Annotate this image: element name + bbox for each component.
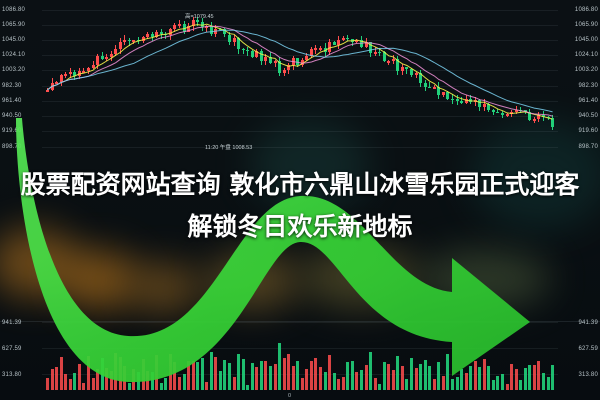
- volume-bar: [533, 365, 536, 390]
- volume-bar: [487, 366, 490, 390]
- volume-bar: [528, 365, 531, 390]
- volume-bar: [283, 358, 286, 390]
- volume-bar: [146, 371, 149, 390]
- headline-line-1: 股票配资网站查询 敦化市六鼎山冰雪乐园正式迎客: [0, 164, 600, 206]
- volume-bar: [205, 382, 208, 390]
- volume-bar: [183, 374, 186, 390]
- volume-bar: [415, 368, 418, 390]
- volume-bar: [378, 384, 381, 390]
- volume-bar: [264, 361, 267, 390]
- volume-bar: [301, 378, 304, 390]
- volume-bar: [442, 376, 445, 390]
- volume-bar: [506, 384, 509, 390]
- headline-line-2: 解锁冬日欢乐新地标: [0, 206, 600, 248]
- volume-bar: [242, 359, 245, 390]
- volume-bar: [114, 353, 117, 390]
- volume-panel: 941.39 627.59 313.80 941.39 627.59 313.8…: [0, 321, 600, 400]
- volume-bar: [365, 365, 368, 390]
- volume-bar: [251, 363, 254, 390]
- volume-bar: [46, 378, 49, 390]
- volume-bar: [123, 366, 126, 390]
- volume-bar: [233, 377, 236, 390]
- volume-bar: [405, 379, 408, 390]
- volume-bar: [387, 364, 390, 390]
- volume-bar: [278, 343, 281, 390]
- volume-bar: [178, 377, 181, 390]
- volume-bar: [369, 352, 372, 390]
- volume-bar: [128, 383, 131, 390]
- volume-bar: [105, 368, 108, 390]
- volume-bar: [510, 364, 513, 390]
- volume-bar: [374, 378, 377, 390]
- volume-bar: [551, 365, 554, 390]
- volume-bar: [187, 361, 190, 390]
- volume-bar: [64, 374, 67, 390]
- volume-bar: [451, 379, 454, 390]
- volume-bar: [60, 357, 63, 390]
- volume-bar: [137, 372, 140, 390]
- volume-bar: [496, 376, 499, 390]
- volume-bar: [196, 362, 199, 390]
- volume-bar: [214, 357, 217, 390]
- volume-bar: [296, 361, 299, 390]
- volume-bar: [192, 361, 195, 390]
- volume-bar: [69, 379, 72, 390]
- volume-bar: [292, 366, 295, 390]
- volume-bar: [314, 358, 317, 390]
- volume-bar: [460, 369, 463, 390]
- chart-annotation-mid: 11:20 午盘 1008.53: [205, 143, 252, 151]
- volume-bar: [219, 371, 222, 390]
- volume-bar: [446, 354, 449, 390]
- volume-bar: [474, 361, 477, 390]
- volume-bar: [324, 372, 327, 390]
- volume-bar: [260, 361, 263, 390]
- volume-bar: [492, 380, 495, 390]
- volume-bar: [428, 366, 431, 390]
- volume-bar: [228, 363, 231, 390]
- volume-bar: [155, 355, 158, 390]
- volume-bar: [151, 372, 154, 390]
- volume-bar: [92, 378, 95, 390]
- volume-bar: [328, 355, 331, 390]
- volume-bars: [0, 322, 600, 390]
- volume-bar: [396, 356, 399, 390]
- volume-bar: [142, 359, 145, 390]
- volume-bar: [524, 368, 527, 390]
- volume-bar: [392, 370, 395, 390]
- volume-bar: [169, 354, 172, 390]
- volume-bar: [342, 377, 345, 390]
- volume-bar: [119, 357, 122, 390]
- volume-bar: [433, 379, 436, 390]
- volume-bar: [346, 362, 349, 390]
- volume-bar: [319, 367, 322, 390]
- volume-bar: [110, 371, 113, 390]
- volume-bar: [287, 354, 290, 390]
- volume-bar: [519, 380, 522, 390]
- volume-bar: [201, 358, 204, 390]
- volume-bar: [401, 366, 404, 390]
- volume-bar: [73, 373, 76, 390]
- volume-bar: [360, 370, 363, 390]
- volume-bar: [274, 364, 277, 390]
- volume-bar: [478, 367, 481, 390]
- volume-bar: [483, 359, 486, 390]
- volume-bar: [96, 369, 99, 390]
- volume-bar: [223, 360, 226, 390]
- volume-bar: [246, 385, 249, 390]
- volume-bar: [310, 361, 313, 390]
- volume-bar: [437, 362, 440, 391]
- volume-bar: [537, 361, 540, 390]
- volume-bar: [101, 358, 104, 390]
- volume-bar: [515, 369, 518, 390]
- volume-bar: [237, 354, 240, 390]
- volume-bar: [87, 356, 90, 390]
- volume-bar: [269, 366, 272, 390]
- volume-bar: [210, 352, 213, 390]
- volume-bar: [469, 366, 472, 390]
- chart-annotation-high: 高=1079.45: [185, 12, 214, 20]
- volume-bar: [547, 377, 550, 390]
- volume-bar: [333, 373, 336, 390]
- volume-bar: [173, 362, 176, 390]
- volume-bar: [410, 358, 413, 390]
- volume-bar: [160, 383, 163, 390]
- volume-bar: [424, 360, 427, 390]
- volume-bar: [132, 369, 135, 390]
- volume-bar: [305, 369, 308, 390]
- volume-bar: [419, 364, 422, 390]
- volume-bar: [501, 374, 504, 390]
- volume-bar: [255, 367, 258, 390]
- volume-bar: [383, 362, 386, 390]
- volume-bar: [337, 379, 340, 390]
- volume-bar: [456, 377, 459, 390]
- banner-image: 1086.80 1065.90 1045.00 1024.10 1003.20 …: [0, 0, 600, 400]
- volume-bar: [351, 361, 354, 390]
- volume-axis-zero-label: 0: [288, 393, 291, 399]
- volume-bar: [82, 383, 85, 390]
- volume-bar: [55, 367, 58, 390]
- volume-bar: [355, 372, 358, 390]
- volume-bar: [542, 373, 545, 390]
- volume-bar: [78, 364, 81, 390]
- volume-bar: [164, 378, 167, 390]
- volume-bar: [51, 369, 54, 390]
- volume-bar: [465, 373, 468, 390]
